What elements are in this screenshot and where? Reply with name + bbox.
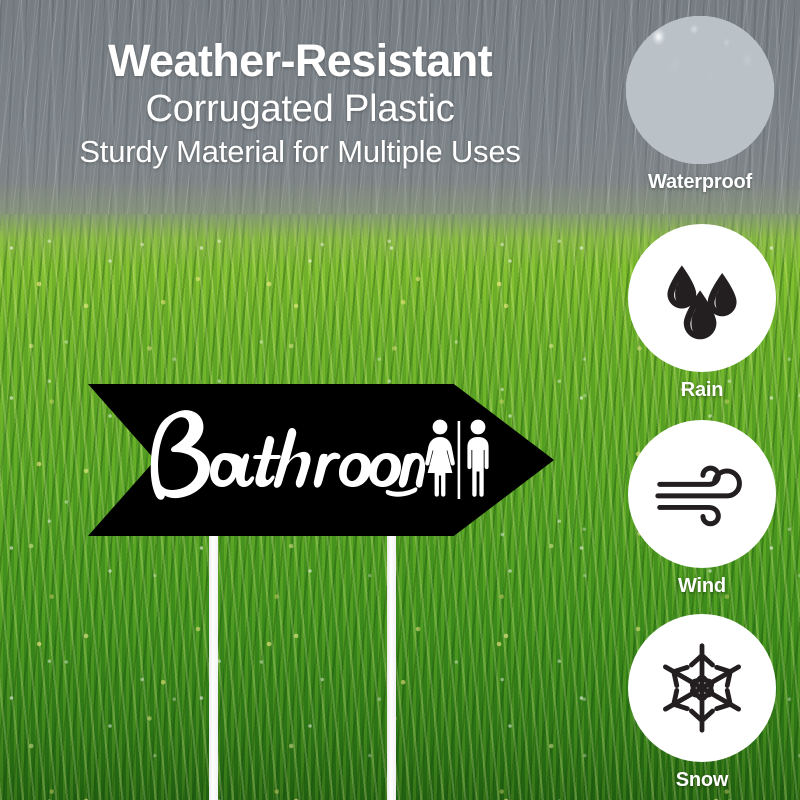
feature-badge-rain: Rain — [628, 224, 776, 402]
headline-block: Weather-Resistant Corrugated Plastic Stu… — [0, 38, 600, 169]
sign-script-text — [126, 398, 426, 518]
badge-circle — [628, 420, 776, 568]
badge-circle — [628, 614, 776, 762]
feature-badge-snow: Snow — [628, 614, 776, 792]
female-restroom-icon — [425, 420, 455, 497]
badge-label: Wind — [628, 575, 776, 598]
feature-badge-wind: Wind — [628, 420, 776, 598]
snowflake-icon — [654, 640, 750, 736]
badge-label: Waterproof — [626, 171, 774, 194]
badge-circle — [626, 16, 774, 164]
headline-secondary: Corrugated Plastic — [0, 90, 600, 130]
male-restroom-icon — [467, 420, 488, 497]
wind-gust-icon — [654, 446, 750, 542]
restroom-pictograms — [423, 418, 495, 502]
headline-primary: Weather-Resistant — [0, 38, 600, 85]
sign-stake-right — [387, 530, 396, 800]
badge-circle — [628, 224, 776, 372]
feature-badge-waterproof: Waterproof — [626, 16, 774, 194]
divider-bar — [458, 421, 461, 499]
badge-label: Snow — [628, 769, 776, 792]
sign-stake-left — [209, 530, 218, 800]
water-droplets-texture-icon — [626, 16, 774, 164]
rain-drops-icon — [654, 250, 750, 346]
headline-tertiary: Sturdy Material for Multiple Uses — [0, 136, 600, 168]
product-feature-image: Weather-Resistant Corrugated Plastic Stu… — [0, 0, 800, 800]
badge-label: Rain — [628, 379, 776, 402]
